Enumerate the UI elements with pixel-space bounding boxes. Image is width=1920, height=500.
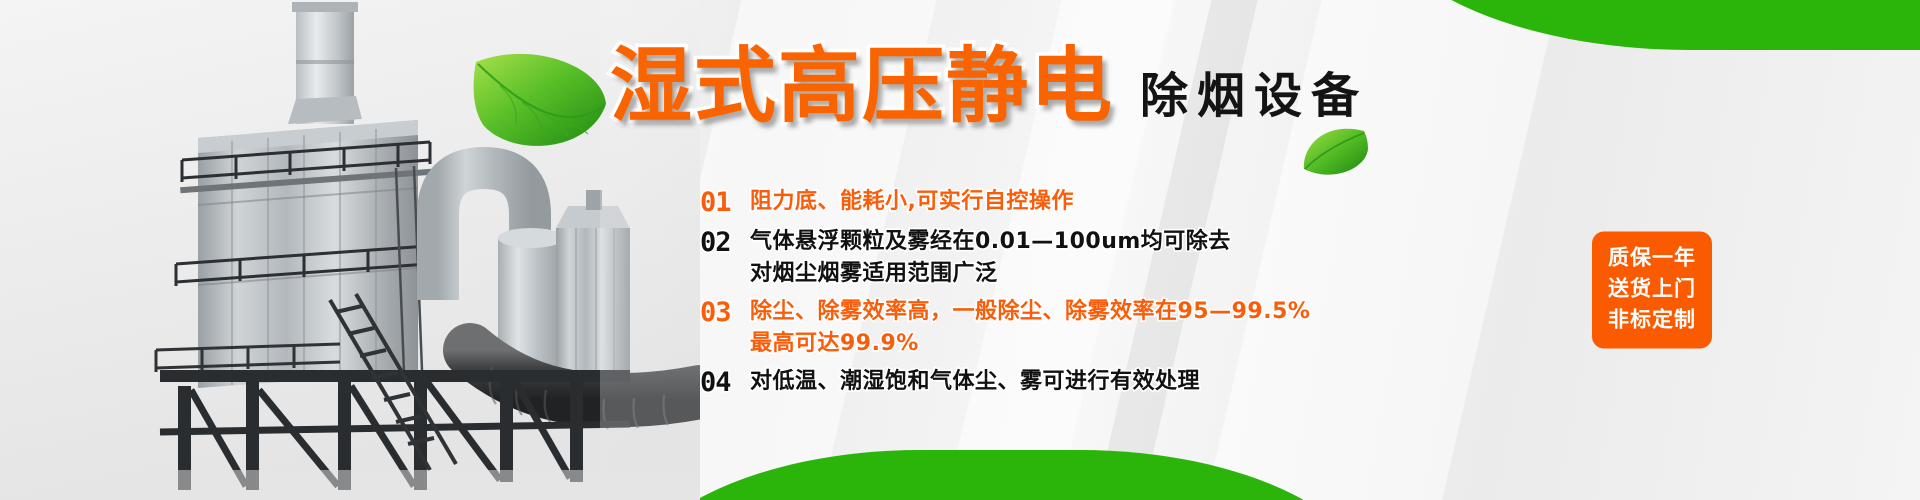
leaf-icon bbox=[1300, 125, 1370, 181]
status-badge: 质保一年 送货上门 非标定制 bbox=[1592, 232, 1712, 349]
green-band-top-decoration bbox=[1370, 0, 1920, 50]
feature-line: 阻力底、能耗小,可实行自控操作 bbox=[750, 186, 1320, 218]
feature-line: 最高可达99.9% bbox=[750, 328, 1320, 360]
green-band-bottom-decoration bbox=[620, 450, 1380, 500]
promotional-banner: 湿式高压静电 除烟设备 01 阻力底、能耗小,可实行自控操作 02 气体悬浮颗粒… bbox=[0, 0, 1920, 500]
feature-line: 气体悬浮颗粒及雾经在0.01—100um均可除去 bbox=[750, 226, 1320, 258]
badge-line: 质保一年 bbox=[1601, 243, 1703, 274]
feature-number: 01 bbox=[700, 186, 750, 220]
feature-number: 02 bbox=[700, 226, 750, 260]
badge-line: 送货上门 bbox=[1601, 274, 1703, 305]
product-photo bbox=[0, 0, 700, 500]
feature-text: 气体悬浮颗粒及雾经在0.01—100um均可除去 对烟尘烟雾适用范围广泛 bbox=[750, 226, 1320, 290]
list-item: 03 除尘、除雾效率高，一般除尘、除雾效率在95—99.5% 最高可达99.9% bbox=[700, 296, 1320, 360]
feature-number: 04 bbox=[700, 366, 750, 400]
feature-text: 对低温、潮湿饱和气体尘、雾可进行有效处理 bbox=[750, 366, 1320, 398]
page-title: 湿式高压静电 bbox=[610, 46, 1114, 128]
list-item: 04 对低温、潮湿饱和气体尘、雾可进行有效处理 bbox=[700, 366, 1320, 400]
list-item: 01 阻力底、能耗小,可实行自控操作 bbox=[700, 186, 1320, 220]
feature-text: 除尘、除雾效率高，一般除尘、除雾效率在95—99.5% 最高可达99.9% bbox=[750, 296, 1320, 360]
feature-number: 03 bbox=[700, 296, 750, 330]
feature-text: 阻力底、能耗小,可实行自控操作 bbox=[750, 186, 1320, 218]
badge-line: 非标定制 bbox=[1601, 305, 1703, 336]
feature-line: 对低温、潮湿饱和气体尘、雾可进行有效处理 bbox=[750, 366, 1320, 398]
headline-row: 湿式高压静电 除烟设备 bbox=[610, 46, 1368, 128]
feature-line: 对烟尘烟雾适用范围广泛 bbox=[750, 258, 1320, 290]
page-subtitle: 除烟设备 bbox=[1140, 72, 1368, 128]
feature-line: 除尘、除雾效率高，一般除尘、除雾效率在95—99.5% bbox=[750, 296, 1320, 328]
list-item: 02 气体悬浮颗粒及雾经在0.01—100um均可除去 对烟尘烟雾适用范围广泛 bbox=[700, 226, 1320, 290]
feature-list: 01 阻力底、能耗小,可实行自控操作 02 气体悬浮颗粒及雾经在0.01—100… bbox=[700, 186, 1320, 402]
